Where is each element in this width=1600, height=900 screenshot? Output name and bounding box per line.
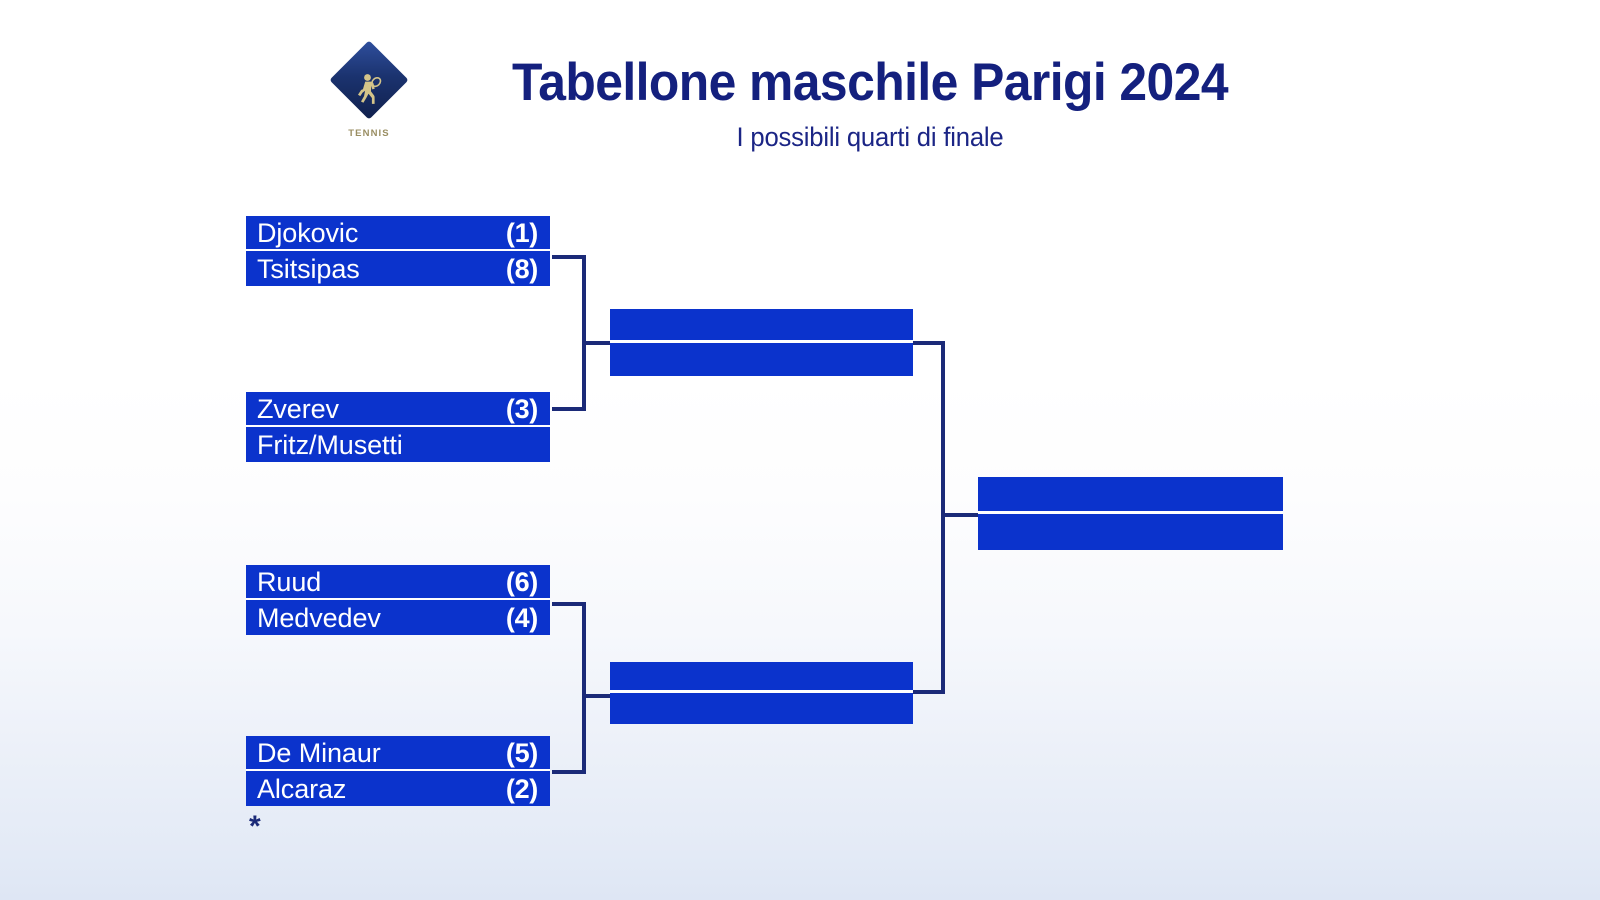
bracket-slot-qf2-p2[interactable]: Fritz/Musetti — [246, 427, 550, 462]
player-name: Ruud — [257, 567, 506, 597]
player-name: Alcaraz — [257, 774, 506, 804]
bracket-slot-qf2-p1[interactable]: Zverev (3) — [246, 392, 550, 427]
bracket-slot-qf4-p1[interactable]: De Minaur (5) — [246, 736, 550, 771]
connector-sf-bottom-stub — [582, 694, 612, 698]
connector-qf1-horizontal — [552, 255, 586, 259]
player-name: Tsitsipas — [257, 254, 506, 284]
player-name: Zverev — [257, 394, 506, 424]
bracket-slot-final-p2[interactable] — [978, 514, 1283, 551]
bracket-slot-qf3-p1[interactable]: Ruud (6) — [246, 565, 550, 600]
tournament-bracket: Djokovic (1) Tsitsipas (8) Zverev (3) Fr… — [0, 0, 1600, 900]
player-name: Medvedev — [257, 603, 506, 633]
bracket-slot-qf3-p2[interactable]: Medvedev (4) — [246, 600, 550, 635]
player-seed: (8) — [506, 254, 538, 284]
bracket-slot-sf-top-p2[interactable] — [610, 343, 913, 377]
connector-final-vertical — [941, 341, 945, 694]
footnote-asterisk: * — [249, 812, 261, 842]
bracket-slot-qf4-p2[interactable]: Alcaraz (2) — [246, 771, 550, 806]
player-seed: (3) — [506, 394, 538, 424]
player-seed: (1) — [506, 218, 538, 248]
connector-sf-top-vertical — [582, 255, 586, 411]
player-seed: (4) — [506, 603, 538, 633]
player-seed: (5) — [506, 738, 538, 768]
bracket-slot-final-p1[interactable] — [978, 477, 1283, 514]
connector-final-stub — [941, 513, 979, 517]
connector-sf-bottom-vertical — [582, 602, 586, 774]
connector-sf-top-stub — [582, 341, 612, 345]
player-seed: (6) — [506, 567, 538, 597]
bracket-slot-final[interactable] — [978, 477, 1283, 550]
bracket-page: TENNIS Tabellone maschile Parigi 2024 I … — [0, 0, 1600, 900]
player-seed: (2) — [506, 774, 538, 804]
player-name: De Minaur — [257, 738, 506, 768]
bracket-slot-sf-bottom[interactable] — [610, 662, 913, 724]
connector-sf-bottom-to-final — [913, 690, 945, 694]
bracket-slot-sf-bottom-p1[interactable] — [610, 662, 913, 693]
bracket-slot-sf-top-p1[interactable] — [610, 309, 913, 343]
bracket-slot-sf-bottom-p2[interactable] — [610, 693, 913, 724]
bracket-slot-qf1-p1[interactable]: Djokovic (1) — [246, 216, 550, 251]
connector-qf4-horizontal — [552, 770, 586, 774]
connector-qf3-horizontal — [552, 602, 586, 606]
player-name: Fritz/Musetti — [257, 430, 538, 460]
bracket-slot-qf1-p2[interactable]: Tsitsipas (8) — [246, 251, 550, 286]
connector-qf2-horizontal — [552, 407, 586, 411]
player-name: Djokovic — [257, 218, 506, 248]
bracket-slot-sf-top[interactable] — [610, 309, 913, 376]
